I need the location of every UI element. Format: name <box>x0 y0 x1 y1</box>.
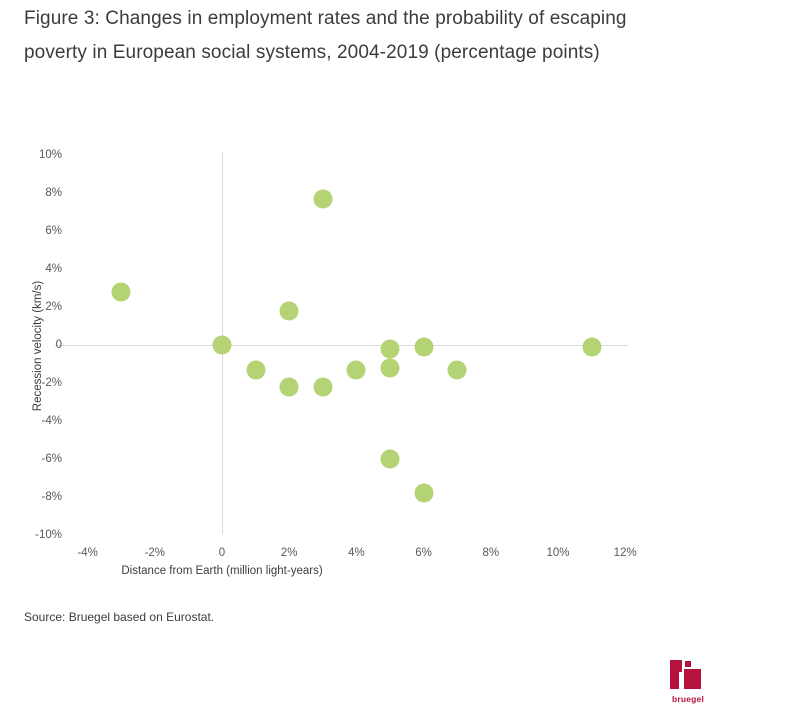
x-tick-label: -4% <box>77 547 97 559</box>
logo-square-icon <box>670 672 679 689</box>
data-point <box>280 301 299 320</box>
bruegel-logo-text: bruegel <box>666 694 710 704</box>
bruegel-logo: bruegel <box>666 660 712 708</box>
y-tick-label: 8% <box>16 187 62 199</box>
x-axis-ticks: -4%-2%02%4%6%8%10%12% <box>0 547 811 567</box>
logo-square-icon <box>670 660 682 672</box>
data-point <box>381 339 400 358</box>
data-point <box>414 337 433 356</box>
data-point <box>414 484 433 503</box>
data-point <box>582 337 601 356</box>
x-tick-label: 2% <box>281 547 298 559</box>
data-point <box>381 358 400 377</box>
x-tick-label: 0 <box>219 547 225 559</box>
x-tick-label: 8% <box>482 547 499 559</box>
scatter-chart: 10%8%6%4%2%0-2%-4%-6%-8%-10% -4%-2%02%4%… <box>0 130 811 590</box>
y-axis-title: Recession velocity (km/s) <box>32 246 44 446</box>
page-title: Figure 3: Changes in employment rates an… <box>24 2 664 70</box>
y-tick-label: 10% <box>16 149 62 161</box>
y-tick-label: -8% <box>16 491 62 503</box>
x-tick-label: 4% <box>348 547 365 559</box>
bruegel-logo-mark <box>666 660 706 694</box>
source-note: Source: Bruegel based on Eurostat. <box>24 610 214 624</box>
logo-square-icon <box>684 669 701 689</box>
data-point <box>280 377 299 396</box>
y-tick-label: -6% <box>16 453 62 465</box>
x-zero-axis-line <box>55 345 628 346</box>
x-tick-label: -2% <box>145 547 165 559</box>
y-tick-label: 6% <box>16 225 62 237</box>
data-point <box>112 282 131 301</box>
data-point <box>213 336 232 355</box>
data-point <box>381 450 400 469</box>
x-tick-label: 6% <box>415 547 432 559</box>
data-point <box>246 360 265 379</box>
x-tick-label: 10% <box>546 547 569 559</box>
data-point <box>448 360 467 379</box>
plot-area <box>0 130 811 550</box>
x-axis-title: Distance from Earth (million light-years… <box>121 565 322 577</box>
x-tick-label: 12% <box>614 547 637 559</box>
data-point <box>313 189 332 208</box>
data-point <box>313 377 332 396</box>
data-point <box>347 360 366 379</box>
y-tick-label: -10% <box>16 529 62 541</box>
logo-square-icon <box>685 661 691 667</box>
